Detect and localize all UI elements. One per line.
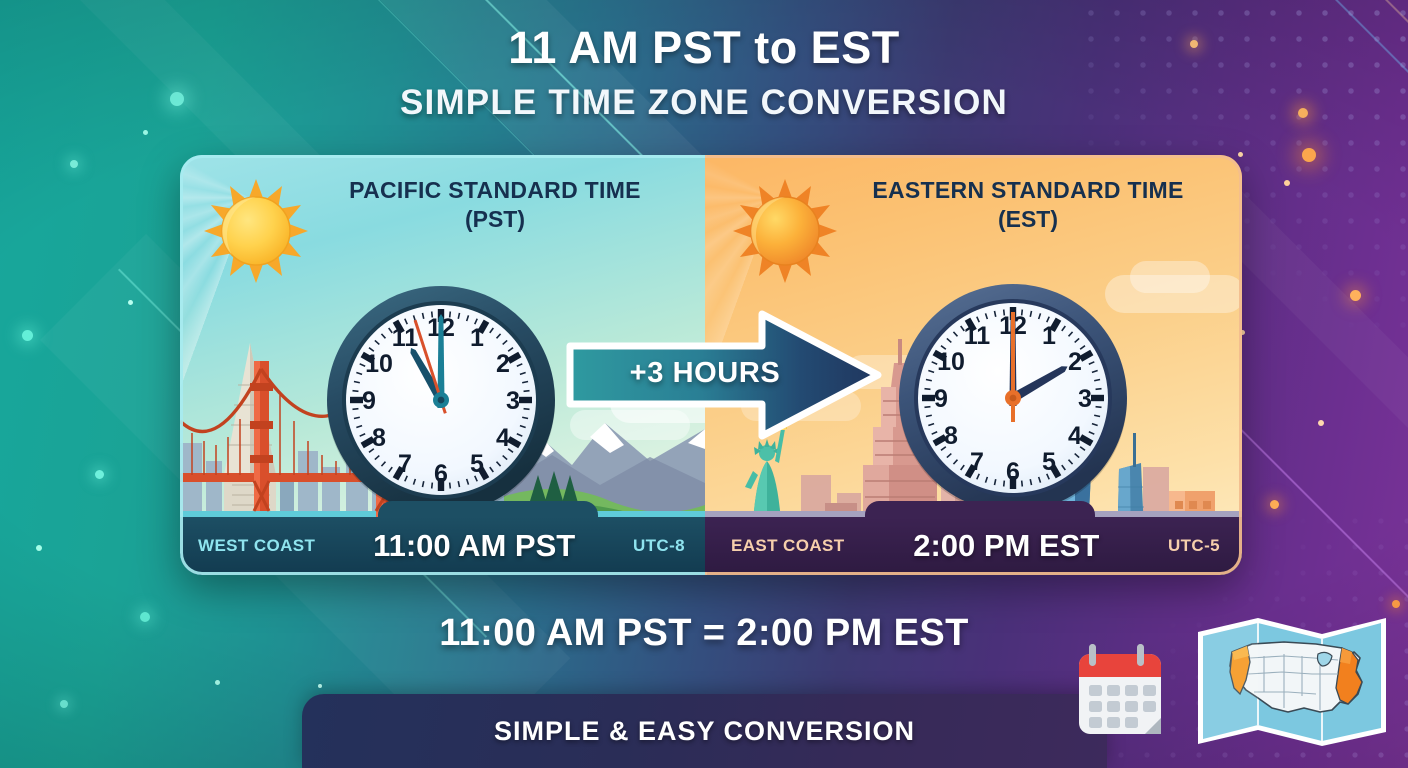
svg-text:5: 5	[1042, 448, 1056, 476]
page-subtitle: SIMPLE TIME ZONE CONVERSION	[0, 83, 1408, 123]
svg-text:4: 4	[1068, 422, 1082, 450]
svg-text:11: 11	[392, 324, 419, 352]
svg-text:6: 6	[434, 460, 448, 488]
panel-title-line2: (PST)	[310, 206, 680, 233]
panel-title-line1: EASTERN STANDARD TIME	[833, 177, 1223, 204]
svg-text:6: 6	[1006, 458, 1020, 486]
svg-text:7: 7	[398, 450, 412, 478]
svg-text:2: 2	[1068, 348, 1082, 376]
coast-label-west: WEST COAST	[198, 536, 315, 556]
svg-text:7: 7	[970, 448, 984, 476]
conversion-arrow: +3 HOURS	[566, 310, 886, 440]
arrow-label: +3 HOURS	[600, 357, 810, 390]
page-title: 11 AM PST to EST	[0, 22, 1408, 74]
clock-eastern: 12 1 2 3 4 5 6 7 8 9 10 11	[893, 278, 1133, 518]
cloud	[1130, 261, 1210, 293]
svg-text:1: 1	[470, 324, 484, 352]
utc-offset-east: UTC-5	[1168, 536, 1220, 556]
svg-text:5: 5	[470, 450, 484, 478]
svg-text:9: 9	[934, 385, 948, 413]
sun-icon	[731, 177, 839, 285]
panel-title-line1: PACIFIC STANDARD TIME	[310, 177, 680, 204]
title-block: 11 AM PST to EST SIMPLE TIME ZONE CONVER…	[0, 22, 1408, 123]
svg-text:10: 10	[937, 348, 965, 376]
svg-text:11: 11	[964, 322, 991, 350]
utc-offset-west: UTC-8	[633, 536, 685, 556]
svg-text:8: 8	[944, 422, 958, 450]
time-value-eastern: 2:00 PM EST	[845, 528, 1168, 564]
svg-text:2: 2	[496, 350, 510, 378]
svg-text:8: 8	[372, 424, 386, 452]
panel-title-eastern: EASTERN STANDARD TIME (EST)	[833, 177, 1223, 233]
panel-title-line2: (EST)	[833, 206, 1223, 233]
time-bar-eastern: EAST COAST 2:00 PM EST UTC-5	[705, 517, 1242, 575]
sun-icon	[202, 177, 310, 285]
clock-pacific: 12 1 2 3 4 5 6 7 8 9 10 11	[321, 280, 561, 520]
svg-text:3: 3	[506, 387, 520, 415]
footer-banner: SIMPLE & EASY CONVERSION	[302, 694, 1107, 768]
calendar-icon	[1075, 640, 1170, 740]
svg-text:10: 10	[365, 350, 393, 378]
footer-text: SIMPLE & EASY CONVERSION	[494, 716, 915, 747]
svg-text:3: 3	[1078, 385, 1092, 413]
us-map-icon	[1192, 612, 1392, 752]
time-bar-pacific: WEST COAST 11:00 AM PST UTC-8	[180, 517, 705, 575]
svg-text:4: 4	[496, 424, 510, 452]
svg-text:1: 1	[1042, 322, 1056, 350]
time-value-pacific: 11:00 AM PST	[315, 528, 633, 564]
panel-title-pacific: PACIFIC STANDARD TIME (PST)	[310, 177, 680, 233]
svg-text:9: 9	[362, 387, 376, 415]
coast-label-east: EAST COAST	[731, 536, 845, 556]
